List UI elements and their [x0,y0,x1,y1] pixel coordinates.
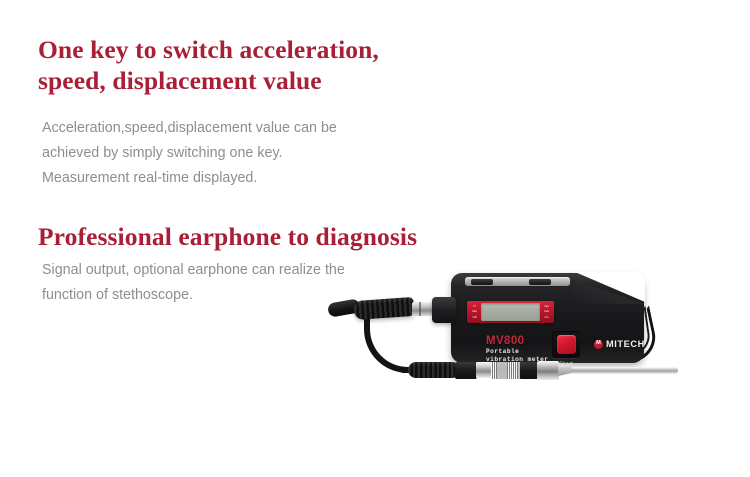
vibration-probe [408,359,678,381]
probe-knurled-grip [491,362,521,379]
product-photo: H toto US mm m/s cm MV800 Portable vibra… [320,255,720,440]
feature-1-body-line-3: Measurement real-time displayed. [42,170,257,186]
side-connector-housing [432,297,456,323]
feature-2-heading: Professional earphone to diagnosis [38,221,458,252]
probe-chrome-collar [476,362,492,378]
vibration-meter-body: H toto US mm m/s cm MV800 Portable vibra… [451,273,644,363]
lcd-left-label-3: US [472,316,476,320]
lcd-right-label-3: cm [545,316,549,320]
probe-steel-rod [572,367,678,374]
lcd-right-label-2: m/s [544,310,549,314]
lcd-right-label-1: mm [544,305,549,309]
probe-barrel-upper [455,362,477,379]
brand-logo: M MITECH [594,339,645,349]
top-slot-right [529,279,551,285]
lcd-left-label-2: toto [472,310,477,314]
lcd-left-labels: H toto US [469,303,480,321]
brand-badge-icon: M [594,340,603,349]
lcd-bezel: H toto US mm m/s cm [467,301,554,323]
brand-name-text: MITECH [606,339,645,349]
lcd-screen [481,303,540,321]
feature-1-body-line-1: Acceleration,speed,displacement value ca… [42,120,337,136]
lcd-right-labels: mm m/s cm [541,303,552,321]
probe-hex-nut [537,361,559,380]
product-feature-page: One key to switch acceleration, speed, d… [0,0,750,477]
product-model-name: MV800 [486,335,524,347]
top-slot-left [471,279,493,285]
feature-1-body: Acceleration,speed,displacement value ca… [38,116,422,191]
feature-1-body-line-2: achieved by simply switching one key. [42,145,283,161]
start-button[interactable] [557,335,576,354]
feature-2-body-line-2: function of stethoscope. [42,287,193,303]
start-button-recess[interactable] [552,331,580,358]
probe-cable-boot [408,362,456,378]
feature-2-body-line-1: Signal output, optional earphone can rea… [42,262,345,278]
top-edge-strip [465,277,570,286]
lcd-left-label-1: H [473,305,475,309]
feature-1-heading-line-2: speed, displacement value [38,66,322,95]
probe-barrel-lower [520,362,538,379]
feature-1-heading: One key to switch acceleration, speed, d… [38,34,438,96]
feature-1-heading-line-1: One key to switch acceleration, [38,35,379,64]
